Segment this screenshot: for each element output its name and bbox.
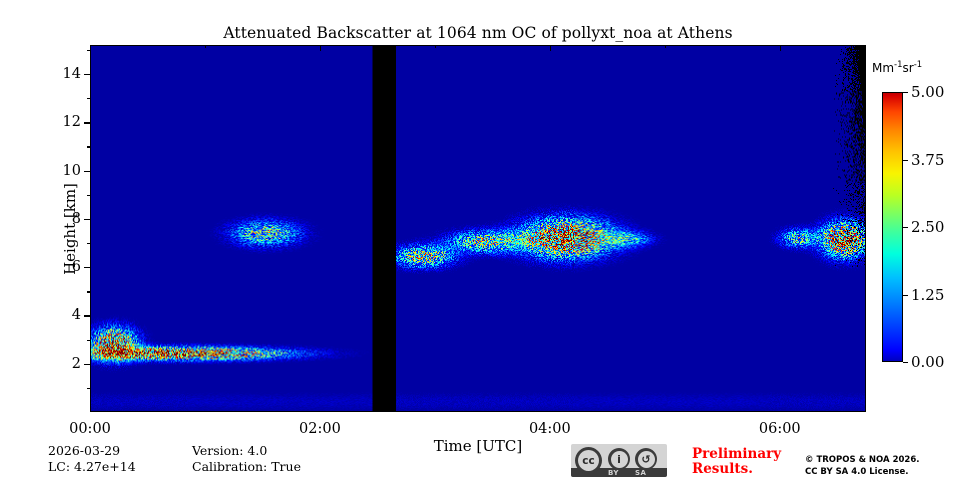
x-tick-minor bbox=[205, 45, 206, 49]
y-axis-title: Height [km] bbox=[24, 45, 116, 412]
x-tick-minor bbox=[665, 45, 666, 49]
x-tick bbox=[780, 45, 781, 51]
colorbar-tick-label: 2.50 bbox=[911, 218, 944, 236]
colorbar-tick bbox=[903, 92, 908, 93]
x-tick bbox=[550, 45, 551, 51]
x-tick-label: 02:00 bbox=[299, 421, 341, 437]
colorbar-tick-label: 0.00 bbox=[911, 353, 944, 371]
cc-sa-label: SA bbox=[635, 469, 646, 477]
cc-by-person-icon: i bbox=[608, 448, 630, 470]
colorbar-units-label: Mm-1sr-1 bbox=[872, 60, 922, 75]
x-tick-label: 00:00 bbox=[69, 421, 111, 437]
cc-sharealike-icon: ↺ bbox=[635, 448, 657, 470]
footer-lidar-constant: LC: 4.27e+14 bbox=[48, 459, 136, 474]
cc-by-label: BY bbox=[608, 469, 619, 477]
colorbar-tick-label: 3.75 bbox=[911, 151, 944, 169]
cc-sa-glyph: ↺ bbox=[638, 451, 655, 468]
cc-by-glyph: i bbox=[611, 451, 628, 468]
footer-version: Version: 4.0 bbox=[192, 443, 267, 458]
colorbar-tick bbox=[903, 160, 908, 161]
lidar-quicklook-figure: Attenuated Backscatter at 1064 nm OC of … bbox=[0, 0, 960, 480]
page-title: Attenuated Backscatter at 1064 nm OC of … bbox=[90, 24, 866, 42]
x-tick-minor bbox=[435, 45, 436, 49]
cc-logo-text: cc bbox=[578, 450, 599, 471]
x-tick bbox=[320, 45, 321, 51]
cc-logo-icon: cc bbox=[575, 447, 602, 474]
axis-ticks: 246810121400:0002:0004:0006:00 bbox=[90, 45, 866, 412]
y-axis-title-text: Height [km] bbox=[61, 183, 79, 275]
colorbar-tick bbox=[903, 362, 908, 363]
colorbar-units-exp2: -1 bbox=[914, 60, 922, 70]
footer-date: 2026-03-29 bbox=[48, 443, 120, 458]
colorbar-tick bbox=[903, 227, 908, 228]
copyright-line2: CC BY SA 4.0 License. bbox=[805, 467, 908, 477]
creative-commons-badge: cc i ↺ BY SA bbox=[571, 444, 667, 477]
preliminary-notice-line1: Preliminary bbox=[692, 446, 781, 462]
copyright-line1: © TROPOS & NOA 2026. bbox=[805, 455, 919, 465]
colorbar-tick-label: 5.00 bbox=[911, 83, 944, 101]
x-tick-label: 06:00 bbox=[759, 421, 801, 437]
x-tick-label: 04:00 bbox=[529, 421, 571, 437]
colorbar-units-base: Mm bbox=[872, 61, 894, 75]
colorbar-tick-label: 1.25 bbox=[911, 286, 944, 304]
colorbar-units-mid: sr bbox=[903, 61, 914, 75]
colorbar-tick bbox=[903, 295, 908, 296]
colorbar-ticks: 0.001.252.503.755.00 bbox=[882, 92, 903, 362]
preliminary-notice-line2: Results. bbox=[692, 461, 753, 477]
colorbar-units-exp1: -1 bbox=[894, 60, 902, 70]
footer-calibration: Calibration: True bbox=[192, 459, 301, 474]
